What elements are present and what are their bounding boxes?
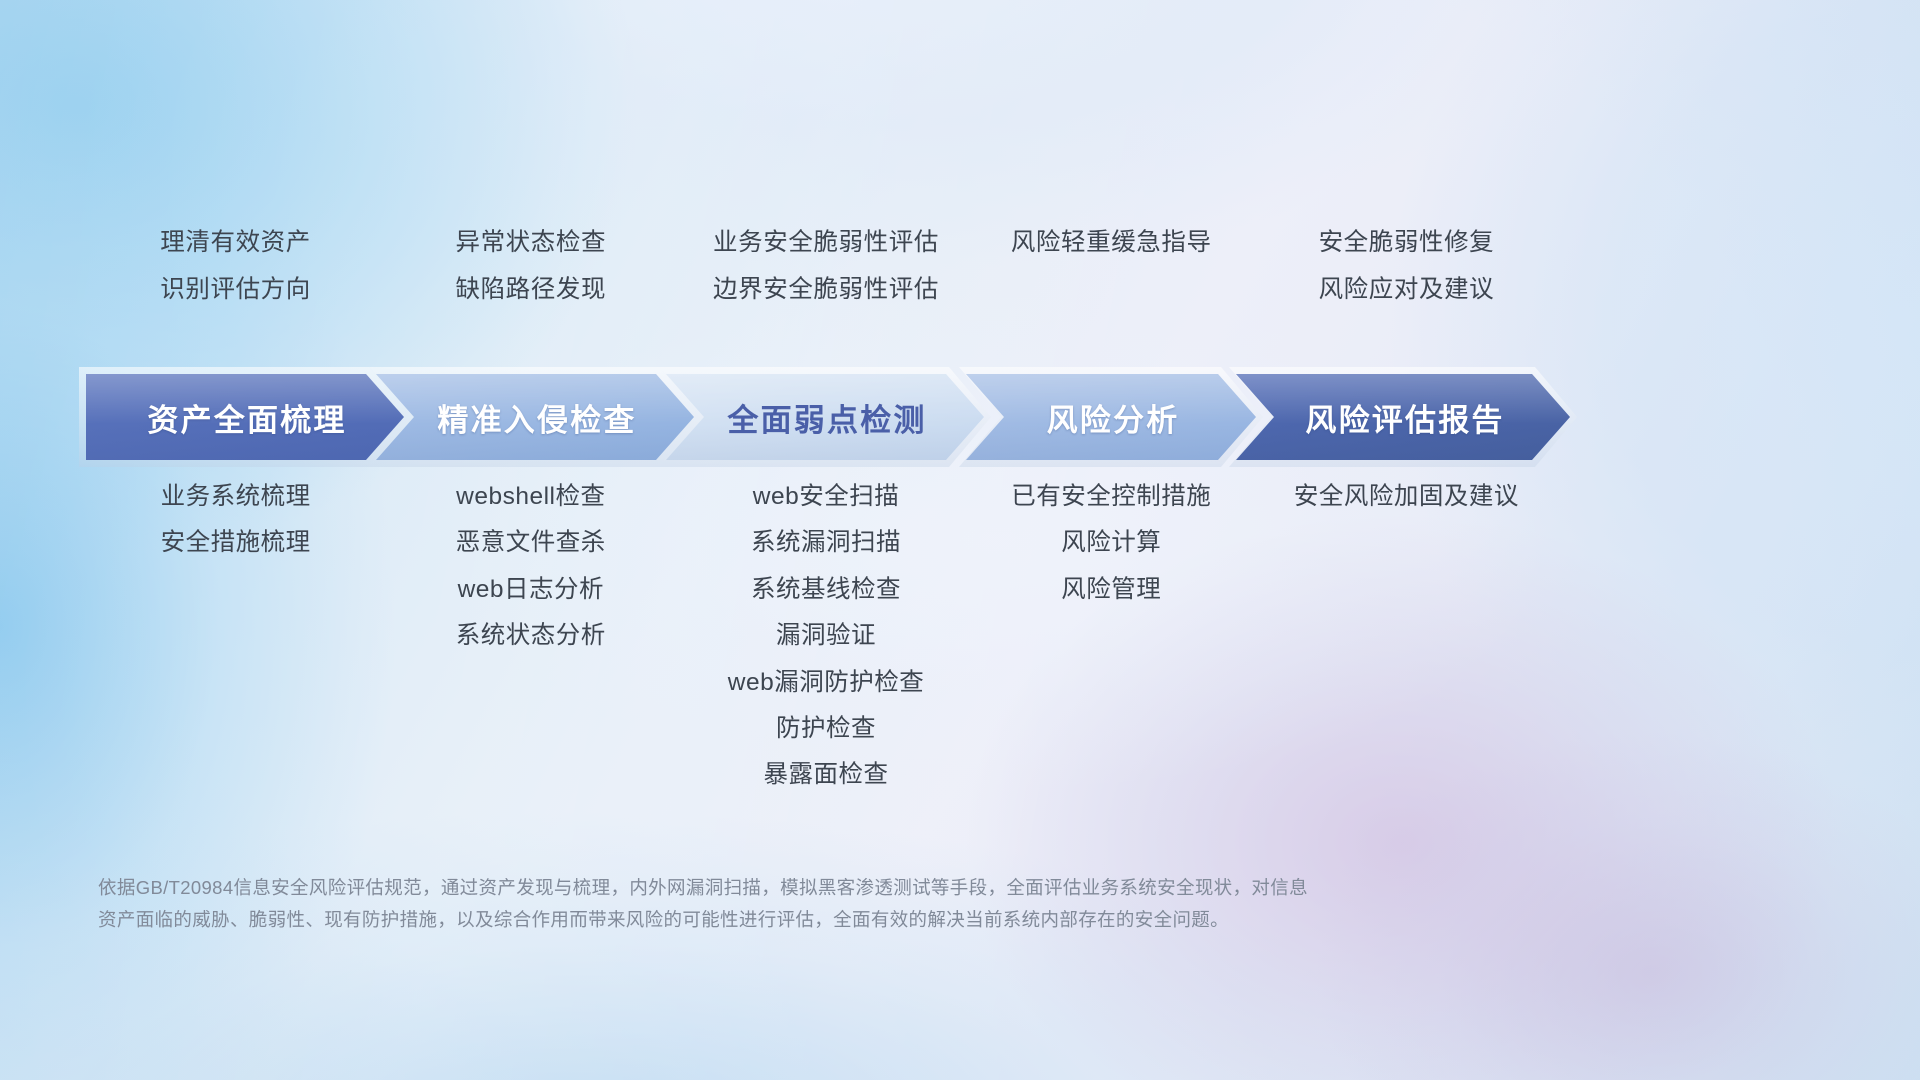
top-item: 缺陷路径发现	[455, 275, 606, 305]
process-chevron-banner: 资产全面梳理精准入侵检查全面弱点检测风险分析风险评估报告	[86, 374, 1570, 460]
bottom-item: 安全措施梳理	[161, 528, 311, 557]
top-item: 理清有效资产	[160, 228, 311, 258]
top-annotations-stage-intrusion-check: 异常状态检查缺陷路径发现	[385, 228, 676, 305]
chevron-label: 资产全面梳理	[143, 395, 346, 440]
footnote-line-2: 资产面临的威胁、脆弱性、现有防护措施，以及综合作用而带来风险的可能性进行评估，全…	[98, 904, 1598, 936]
chevron-label: 风险评估报告	[1301, 395, 1504, 440]
chevron-label: 精准入侵检查	[433, 395, 636, 440]
chevron-stage-asset-inventory[interactable]: 资产全面梳理	[86, 374, 404, 460]
chevron-stage-intrusion-check[interactable]: 精准入侵检查	[376, 374, 694, 460]
bottom-item: 暴露面检查	[764, 760, 889, 789]
bottom-item: 防护检查	[776, 714, 876, 743]
top-annotations-stage-asset-inventory: 理清有效资产识别评估方向	[86, 228, 385, 305]
bottom-item: 恶意文件查杀	[456, 528, 606, 557]
top-item: 风险应对及建议	[1319, 275, 1495, 305]
footnote-block: 依据GB/T20984信息安全风险评估规范，通过资产发现与梳理，内外网漏洞扫描，…	[98, 872, 1598, 937]
bottom-item: 风险计算	[1061, 528, 1161, 557]
bottom-annotations-stage-intrusion-check: webshell检查恶意文件查杀web日志分析系统状态分析	[385, 482, 676, 790]
top-annotations-stage-assessment-report: 安全脆弱性修复风险应对及建议	[1247, 228, 1566, 305]
chevron-label: 全面弱点检测	[723, 395, 926, 440]
diagram-content: 理清有效资产识别评估方向异常状态检查缺陷路径发现业务安全脆弱性评估边界安全脆弱性…	[0, 0, 1920, 1080]
bottom-annotations-row: 业务系统梳理安全措施梳理webshell检查恶意文件查杀web日志分析系统状态分…	[86, 482, 1566, 790]
slide-canvas: 理清有效资产识别评估方向异常状态检查缺陷路径发现业务安全脆弱性评估边界安全脆弱性…	[0, 0, 1920, 1080]
chevron-stage-weakness-detection[interactable]: 全面弱点检测	[666, 374, 984, 460]
bottom-annotations-stage-weakness-detection: web安全扫描系统漏洞扫描系统基线检查漏洞验证web漏洞防护检查防护检查暴露面检…	[676, 482, 975, 790]
bottom-item: 系统基线检查	[751, 575, 901, 604]
top-item: 业务安全脆弱性评估	[713, 228, 939, 258]
bottom-annotations-stage-risk-analysis: 已有安全控制措施风险计算风险管理	[976, 482, 1247, 790]
top-item: 安全脆弱性修复	[1319, 228, 1495, 258]
bottom-item: webshell检查	[456, 482, 605, 511]
top-item: 识别评估方向	[160, 275, 311, 305]
bottom-item: 安全风险加固及建议	[1294, 482, 1519, 511]
bottom-item: 系统状态分析	[456, 621, 606, 650]
top-item: 风险轻重缓急指导	[1011, 228, 1212, 258]
chevron-label: 风险分析	[1043, 395, 1180, 440]
bottom-item: 漏洞验证	[776, 621, 876, 650]
top-item: 异常状态检查	[455, 228, 606, 258]
chevron-stage-risk-analysis[interactable]: 风险分析	[966, 374, 1256, 460]
bottom-annotations-stage-assessment-report: 安全风险加固及建议	[1247, 482, 1566, 790]
bottom-item: web漏洞防护检查	[728, 668, 924, 697]
top-annotations-stage-weakness-detection: 业务安全脆弱性评估边界安全脆弱性评估	[676, 228, 975, 305]
chevron-stage-assessment-report[interactable]: 风险评估报告	[1236, 374, 1570, 460]
top-item: 边界安全脆弱性评估	[713, 275, 939, 305]
footnote-line-1: 依据GB/T20984信息安全风险评估规范，通过资产发现与梳理，内外网漏洞扫描，…	[98, 872, 1598, 904]
bottom-item: 已有安全控制措施	[1011, 482, 1211, 511]
bottom-annotations-stage-asset-inventory: 业务系统梳理安全措施梳理	[86, 482, 385, 790]
bottom-item: web安全扫描	[753, 482, 899, 511]
bottom-item: 系统漏洞扫描	[751, 528, 901, 557]
bottom-item: web日志分析	[458, 575, 604, 604]
top-annotations-stage-risk-analysis: 风险轻重缓急指导	[976, 228, 1247, 305]
bottom-item: 业务系统梳理	[161, 482, 311, 511]
top-annotations-row: 理清有效资产识别评估方向异常状态检查缺陷路径发现业务安全脆弱性评估边界安全脆弱性…	[86, 228, 1566, 305]
bottom-item: 风险管理	[1061, 575, 1161, 604]
